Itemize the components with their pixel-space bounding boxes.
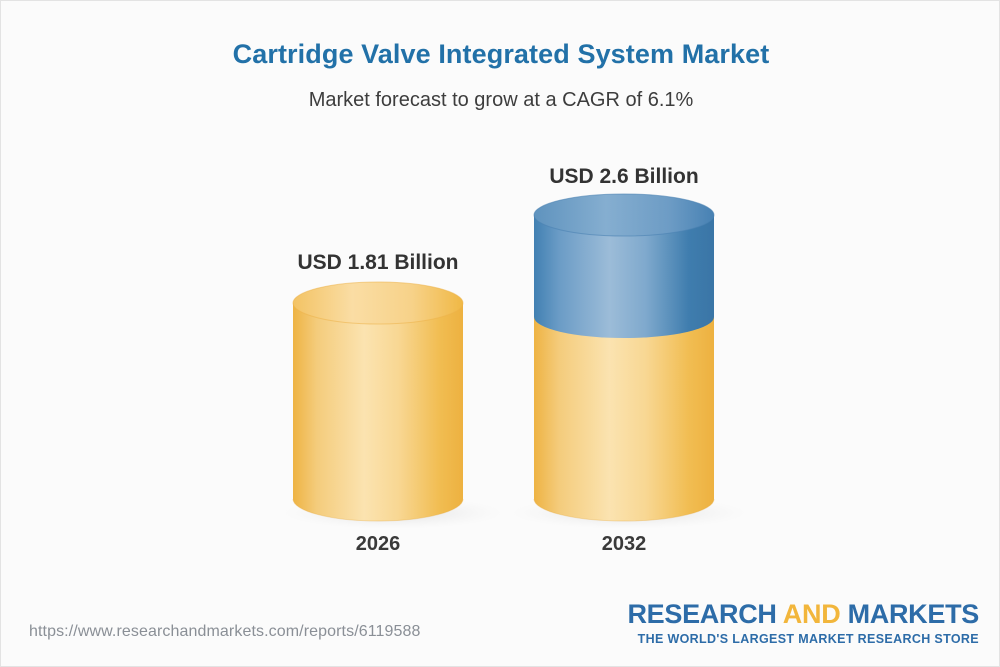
- logo-research-text: RESEARCH: [627, 599, 776, 629]
- source-url[interactable]: https://www.researchandmarkets.com/repor…: [29, 623, 421, 641]
- cylinder-bars-svg: [1, 1, 1000, 601]
- bar-2032: [534, 194, 714, 521]
- bar-value-label-2026: USD 1.81 Billion: [278, 251, 478, 275]
- logo-and-text: AND: [777, 599, 848, 629]
- logo-wordmark: RESEARCH AND MARKETS: [627, 601, 979, 628]
- chart-canvas: Cartridge Valve Integrated System Market…: [0, 0, 1000, 667]
- category-label-2026: 2026: [298, 533, 458, 556]
- bar-2026: [293, 282, 463, 521]
- logo-markets-text: MARKETS: [848, 599, 979, 629]
- plot-area: USD 1.81 Billion USD 2.6 Billion 2026 20…: [1, 1, 1000, 601]
- bar-value-label-2032: USD 2.6 Billion: [524, 165, 724, 189]
- brand-logo: RESEARCH AND MARKETS THE WORLD'S LARGEST…: [627, 601, 979, 646]
- logo-tagline: THE WORLD'S LARGEST MARKET RESEARCH STOR…: [627, 633, 979, 646]
- category-label-2032: 2032: [544, 533, 704, 556]
